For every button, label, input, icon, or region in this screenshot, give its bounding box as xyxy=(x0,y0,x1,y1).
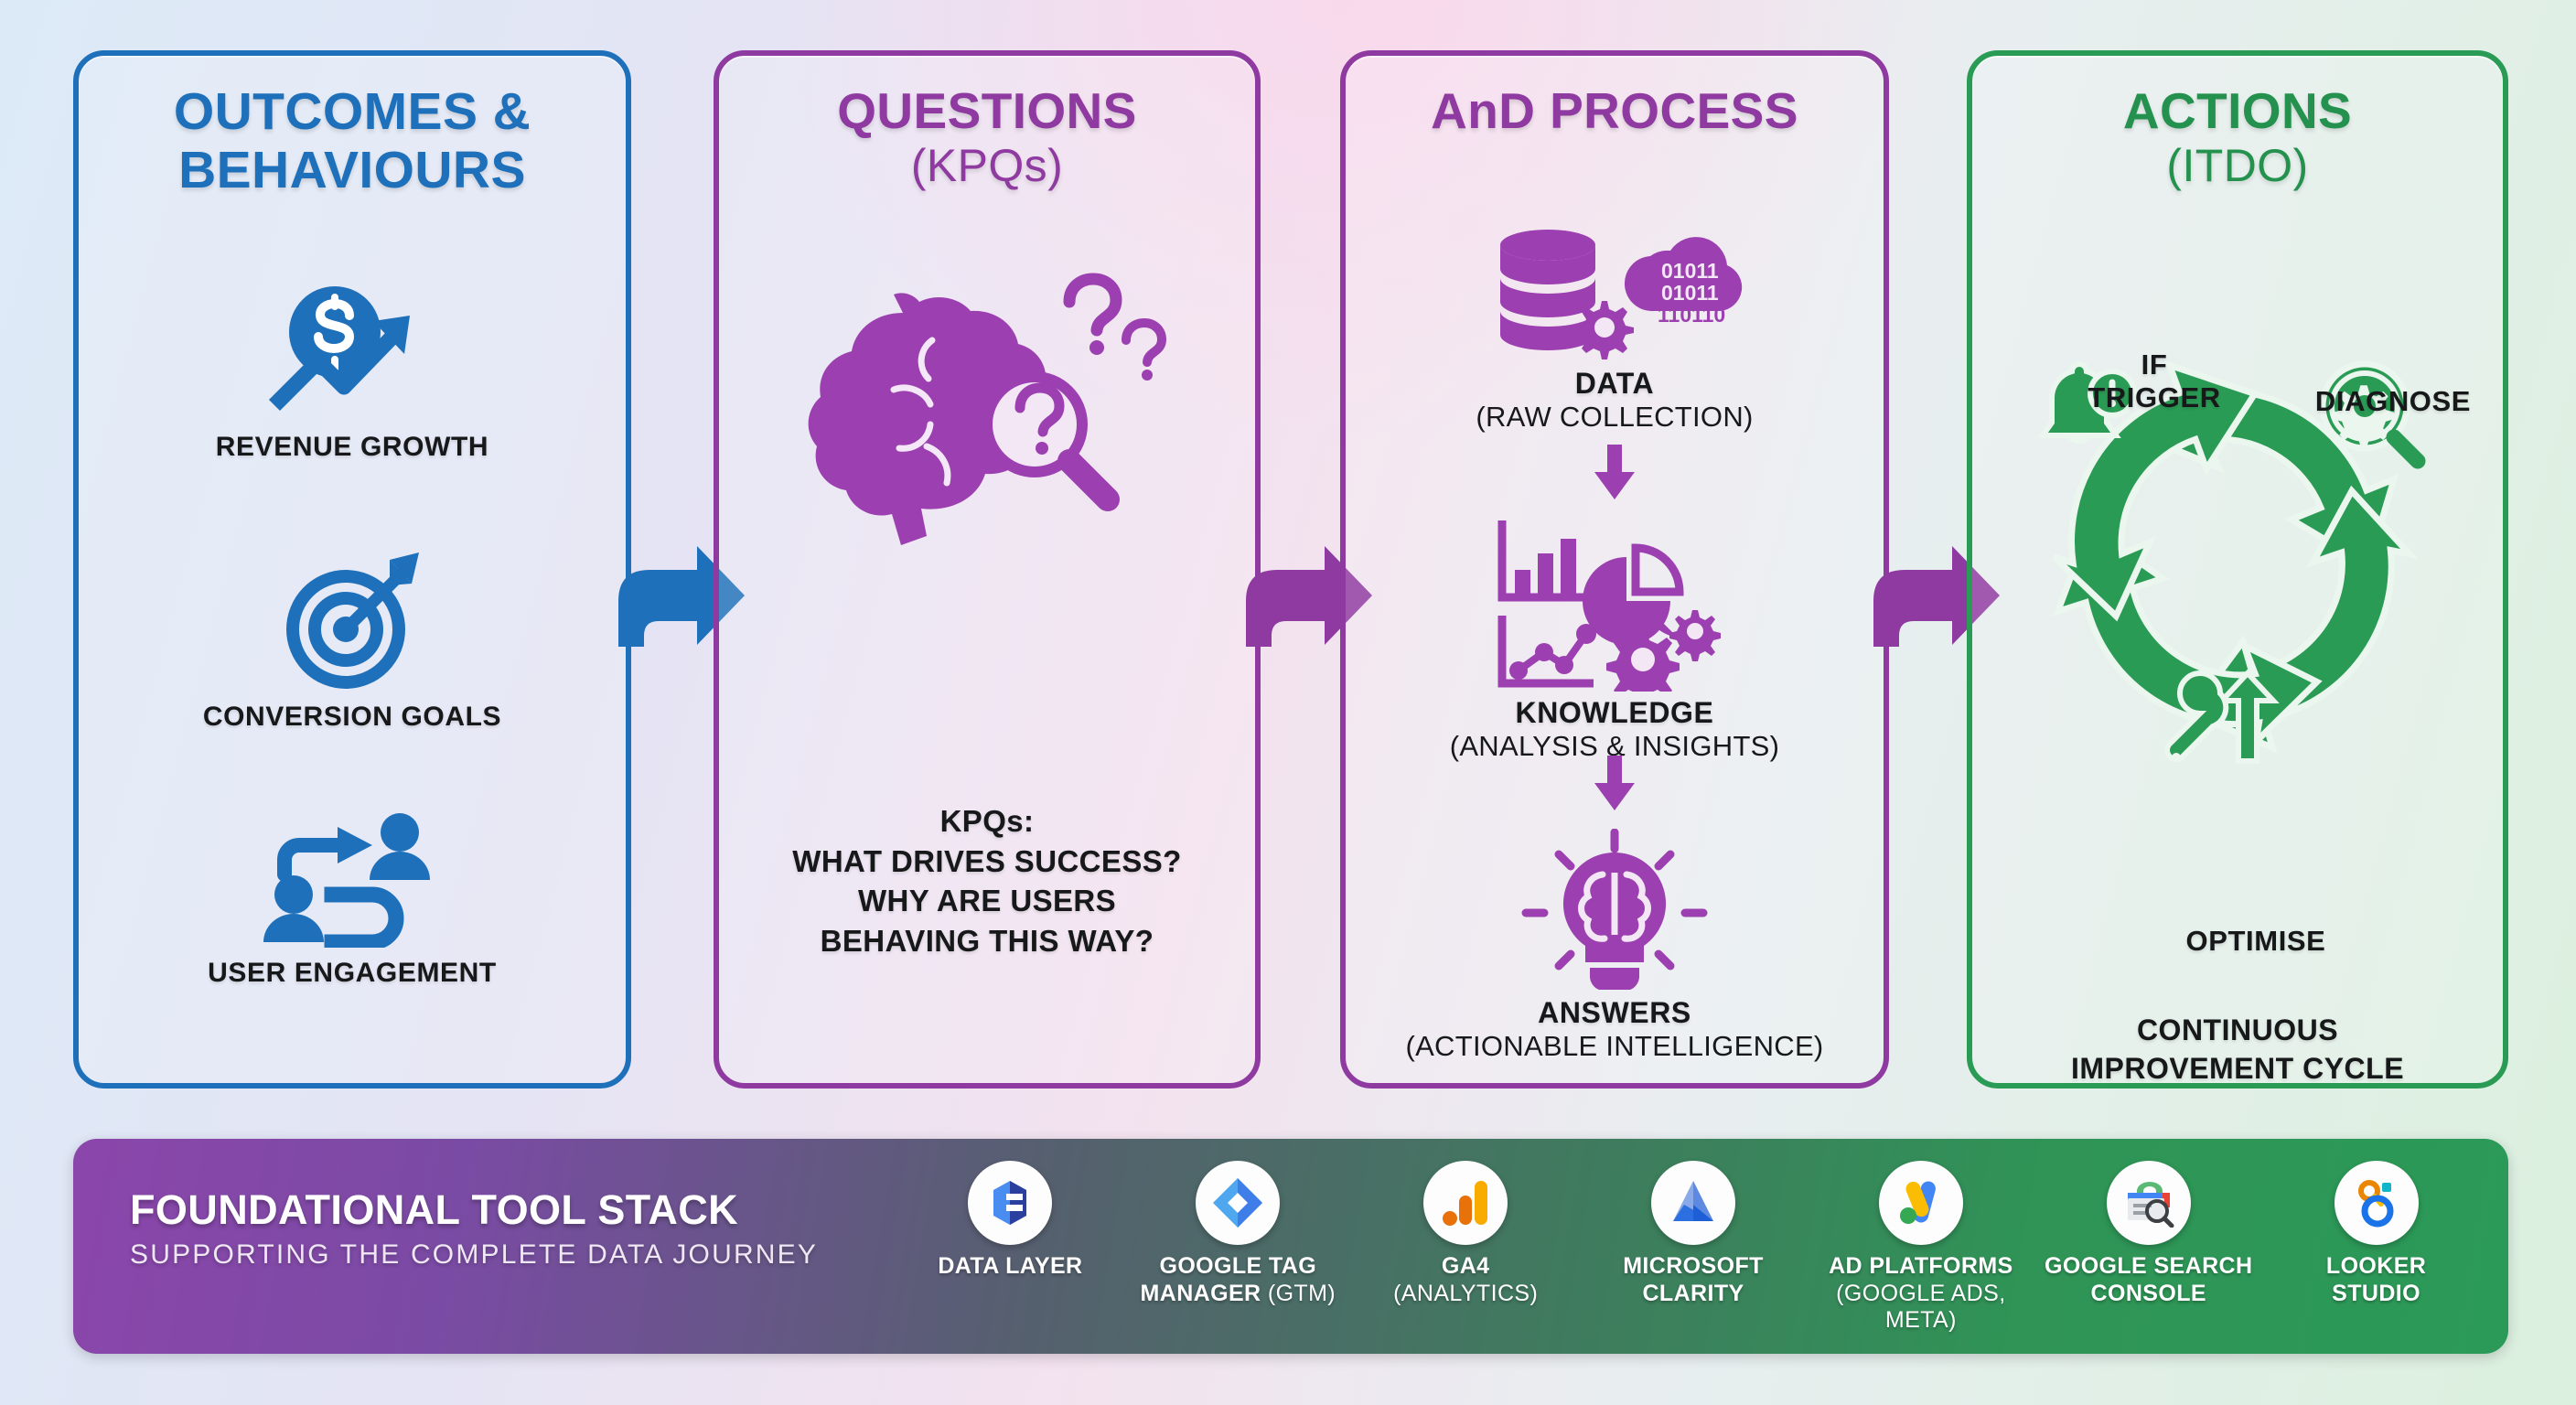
google-tag-manager-icon xyxy=(1211,1176,1264,1229)
tool-ad-platforms-line1: AD PLATFORMS xyxy=(1829,1253,2013,1279)
kpi-user-engagement-label: USER ENGAGEMENT xyxy=(79,958,626,989)
tool-clarity-line1: MICROSOFT xyxy=(1623,1253,1764,1279)
cycle-label-optimise: OPTIMISE xyxy=(2119,925,2393,958)
kpq-line-2: WHY ARE USERS xyxy=(746,881,1228,921)
tool-ad-platforms-label: AD PLATFORMS (GOOGLE ADS, META) xyxy=(1807,1253,2034,1335)
kpq-question-text: KPQs: WHAT DRIVES SUCCESS? WHY ARE USERS… xyxy=(746,801,1228,960)
cycle-label-if-line2: TRIGGER xyxy=(2049,381,2259,414)
tool-gsc-label: GOOGLE SEARCH CONSOLE xyxy=(2034,1253,2262,1307)
panel-outcomes-behaviours: OUTCOMES & BEHAVIOURS REVENUE GROWTH xyxy=(73,50,631,1089)
panel-outcomes-title-line1: OUTCOMES & xyxy=(174,82,531,141)
cycle-label-if-line1: IF xyxy=(2049,349,2259,381)
looker-studio-icon xyxy=(2352,1178,2401,1228)
stage-knowledge-label: KNOWLEDGE xyxy=(1346,696,1884,730)
google-ads-disc xyxy=(1879,1161,1963,1245)
tool-data-layer-line1: DATA LAYER xyxy=(938,1253,1082,1279)
kpi-conversion-goals-label: CONVERSION GOALS xyxy=(79,702,626,733)
stage-data-label: DATA xyxy=(1346,367,1884,401)
stage-data: 01011 01011 110110 DATA (RAW COLLECTION) xyxy=(1346,225,1884,434)
target-dart-icon xyxy=(274,545,430,692)
lightbulb-brain-icon xyxy=(1519,829,1711,992)
tool-gsc-line2: CONSOLE xyxy=(2091,1281,2206,1306)
tool-looker-line1: LOOKER xyxy=(2326,1253,2426,1279)
stage-data-sublabel: (RAW COLLECTION) xyxy=(1346,401,1884,434)
ga4-disc xyxy=(1423,1161,1508,1245)
charts-gears-icon xyxy=(1491,513,1738,692)
down-arrow-knowledge-to-answers xyxy=(1346,756,1884,817)
kpi-conversion-goals: CONVERSION GOALS xyxy=(79,545,626,733)
kpi-revenue-growth-label: REVENUE GROWTH xyxy=(79,432,626,463)
tool-microsoft-clarity[interactable]: MICROSOFT CLARITY xyxy=(1580,1155,1808,1307)
panel-actions-title: ACTIONS (ITDO) xyxy=(1972,83,2503,191)
panel-actions-title-line2: (ITDO) xyxy=(1972,140,2503,191)
footer-heading: FOUNDATIONAL TOOL STACK SUPPORTING THE C… xyxy=(130,1186,818,1271)
stage-answers: ANSWERS (ACTIONABLE INTELLIGENCE) xyxy=(1346,829,1884,1063)
tool-ga4-line1: GA4 xyxy=(1442,1253,1490,1279)
tool-gtm-line2: MANAGER xyxy=(1141,1281,1268,1306)
user-engagement-icon xyxy=(261,810,444,948)
tool-list: DATA LAYER GOOGLE TAG MANAGER (GTM) xyxy=(896,1155,2490,1338)
tool-ad-platforms-line2: (GOOGLE ADS, META) xyxy=(1836,1281,2005,1334)
google-search-console-icon xyxy=(2122,1178,2175,1228)
cycle-label-if-trigger: IF TRIGGER xyxy=(2049,349,2259,413)
stage-knowledge: KNOWLEDGE (ANALYSIS & INSIGHTS) xyxy=(1346,513,1884,763)
down-arrow-data-to-knowledge xyxy=(1346,445,1884,506)
cycle-label-diagnose: DIAGNOSE xyxy=(2256,385,2530,418)
panel-actions: ACTIONS (ITDO) xyxy=(1967,50,2508,1089)
tool-gtm-label: GOOGLE TAG MANAGER (GTM) xyxy=(1124,1253,1352,1307)
tool-ga4-label: GA4 (ANALYTICS) xyxy=(1352,1253,1580,1307)
tool-looker-studio[interactable]: LOOKER STUDIO xyxy=(2262,1155,2490,1307)
tool-gtm-line1: GOOGLE TAG xyxy=(1159,1253,1316,1279)
footer-subtitle: SUPPORTING THE COMPLETE DATA JOURNEY xyxy=(130,1239,818,1271)
panel-questions-title: QUESTIONS (KPQs) xyxy=(719,83,1255,191)
stage-answers-label: ANSWERS xyxy=(1346,996,1884,1030)
kpq-line-1: WHAT DRIVES SUCCESS? xyxy=(746,842,1228,882)
tool-gtm-line2-thin: (GTM) xyxy=(1268,1281,1336,1306)
foundational-tool-stack-bar: FOUNDATIONAL TOOL STACK SUPPORTING THE C… xyxy=(73,1139,2508,1354)
panel-questions-title-line1: QUESTIONS xyxy=(837,82,1137,139)
clarity-disc xyxy=(1651,1161,1735,1245)
tool-data-layer[interactable]: DATA LAYER xyxy=(896,1155,1124,1281)
tool-gsc-line1: GOOGLE SEARCH xyxy=(2045,1253,2252,1279)
data-layer-icon xyxy=(984,1177,1036,1228)
brain-magnifier-question-icon xyxy=(795,252,1179,573)
panel-and-process-title-text: AnD PROCESS xyxy=(1431,82,1798,139)
kpi-user-engagement: USER ENGAGEMENT xyxy=(79,810,626,989)
binary-line-1: 01011 xyxy=(1661,281,1719,305)
gear-icon xyxy=(1575,301,1634,359)
panel-questions-title-line2: (KPQs) xyxy=(719,140,1255,191)
database-cloud-binary-icon: 01011 01011 110110 xyxy=(1482,225,1747,362)
gsc-disc xyxy=(2107,1161,2191,1245)
data-layer-disc xyxy=(968,1161,1052,1245)
kpi-revenue-growth: REVENUE GROWTH xyxy=(79,284,626,463)
kpq-line-3: BEHAVING THIS WAY? xyxy=(746,921,1228,961)
tool-clarity-line2: CLARITY xyxy=(1642,1281,1744,1306)
dollar-growth-arrow-icon xyxy=(265,284,439,422)
brain-icon-wrap xyxy=(719,252,1255,577)
panel-questions: QUESTIONS (KPQs) xyxy=(714,50,1261,1089)
panel-and-process: AnD PROCESS 01011 01011 110110 DATA (RAW… xyxy=(1340,50,1889,1089)
panel-actions-title-line1: ACTIONS xyxy=(2123,82,2352,139)
continuous-line-1: IMPROVEMENT CYCLE xyxy=(1991,1050,2485,1089)
google-ads-icon xyxy=(1895,1177,1947,1228)
tool-looker-line2: STUDIO xyxy=(2332,1281,2420,1306)
continuous-improvement-text: CONTINUOUS IMPROVEMENT CYCLE xyxy=(1991,1012,2485,1088)
tool-google-search-console[interactable]: GOOGLE SEARCH CONSOLE xyxy=(2034,1155,2262,1307)
kpq-line-0: KPQs: xyxy=(746,801,1228,842)
infographic-canvas: OUTCOMES & BEHAVIOURS REVENUE GROWTH xyxy=(0,0,2576,1405)
panel-and-process-title: AnD PROCESS xyxy=(1346,83,1884,140)
gtm-disc xyxy=(1196,1161,1280,1245)
looker-disc xyxy=(2334,1161,2419,1245)
stage-answers-sublabel: (ACTIONABLE INTELLIGENCE) xyxy=(1346,1030,1884,1063)
tool-ad-platforms[interactable]: AD PLATFORMS (GOOGLE ADS, META) xyxy=(1807,1155,2034,1335)
tool-clarity-label: MICROSOFT CLARITY xyxy=(1580,1253,1808,1307)
binary-line-0: 01011 xyxy=(1661,259,1719,283)
footer-title: FOUNDATIONAL TOOL STACK xyxy=(130,1186,818,1234)
tool-ga4[interactable]: GA4 (ANALYTICS) xyxy=(1352,1155,1580,1307)
continuous-line-0: CONTINUOUS xyxy=(1991,1012,2485,1050)
tool-looker-label: LOOKER STUDIO xyxy=(2262,1253,2490,1307)
panel-outcomes-title-line2: BEHAVIOURS xyxy=(79,142,626,200)
microsoft-clarity-icon xyxy=(1668,1177,1719,1228)
tool-data-layer-label: DATA LAYER xyxy=(896,1253,1124,1281)
tool-ga4-line2: (ANALYTICS) xyxy=(1393,1281,1538,1306)
ga4-icon xyxy=(1442,1177,1489,1228)
tool-google-tag-manager[interactable]: GOOGLE TAG MANAGER (GTM) xyxy=(1124,1155,1352,1307)
panel-outcomes-title: OUTCOMES & BEHAVIOURS xyxy=(79,83,626,200)
binary-line-2: 110110 xyxy=(1658,303,1725,327)
